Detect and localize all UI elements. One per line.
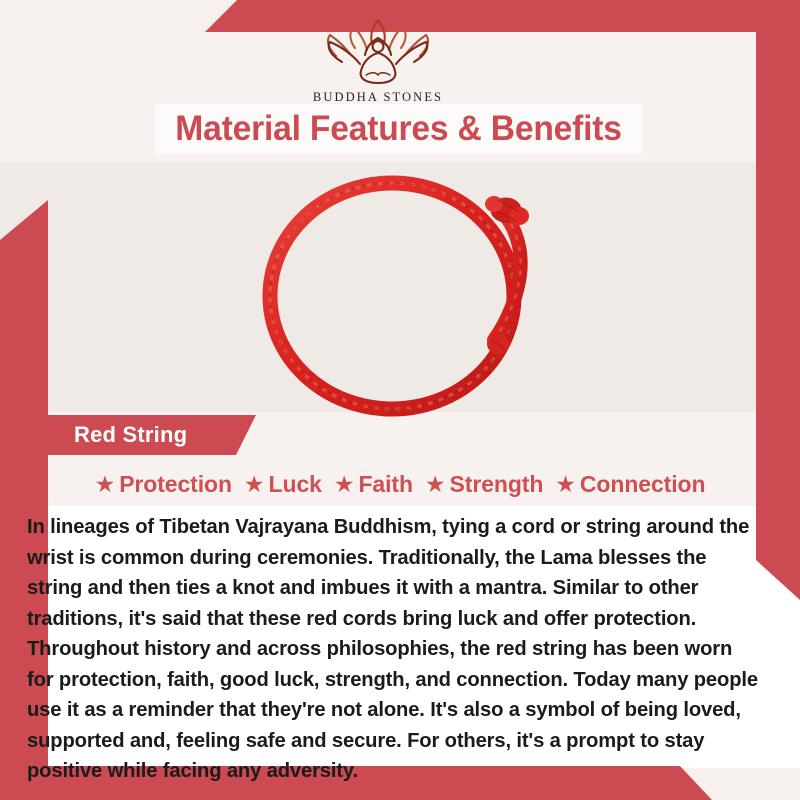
lotus-meditation-figure-icon [0, 14, 756, 88]
benefit-item-strength: ★ Strength [419, 471, 549, 498]
product-label-ribbon: Red String [18, 415, 256, 455]
star-icon: ★ [95, 473, 116, 496]
benefit-label: Connection [580, 471, 706, 498]
benefit-label: Protection [119, 471, 232, 498]
benefit-item-protection: ★ Protection [89, 471, 238, 498]
product-image [232, 168, 572, 420]
benefits-row: ★ Protection ★ Luck ★ Faith ★ Strength ★… [0, 466, 800, 502]
benefit-label: Strength [450, 471, 544, 498]
brand-wordmark: BUDDHA STONES [0, 90, 756, 105]
brand-logo: BUDDHA STONES [0, 14, 756, 105]
decorative-right-red-band [756, 0, 800, 600]
benefit-item-connection: ★ Connection [549, 471, 711, 498]
star-icon: ★ [425, 473, 446, 496]
star-icon: ★ [334, 473, 355, 496]
benefit-item-luck: ★ Luck [238, 471, 328, 498]
benefit-label: Luck [269, 471, 322, 498]
benefit-item-faith: ★ Faith [328, 471, 419, 498]
benefit-label: Faith [358, 471, 412, 498]
page-title: Material Features & Benefits [176, 109, 623, 149]
infographic-root: BUDDHA STONES Material Features & Benefi… [0, 0, 800, 800]
headline-banner: Material Features & Benefits [155, 104, 643, 154]
star-icon: ★ [555, 473, 576, 496]
product-label-text: Red String [18, 422, 187, 448]
star-icon: ★ [244, 473, 265, 496]
description-paragraph: In lineages of Tibetan Vajrayana Buddhis… [27, 512, 761, 787]
